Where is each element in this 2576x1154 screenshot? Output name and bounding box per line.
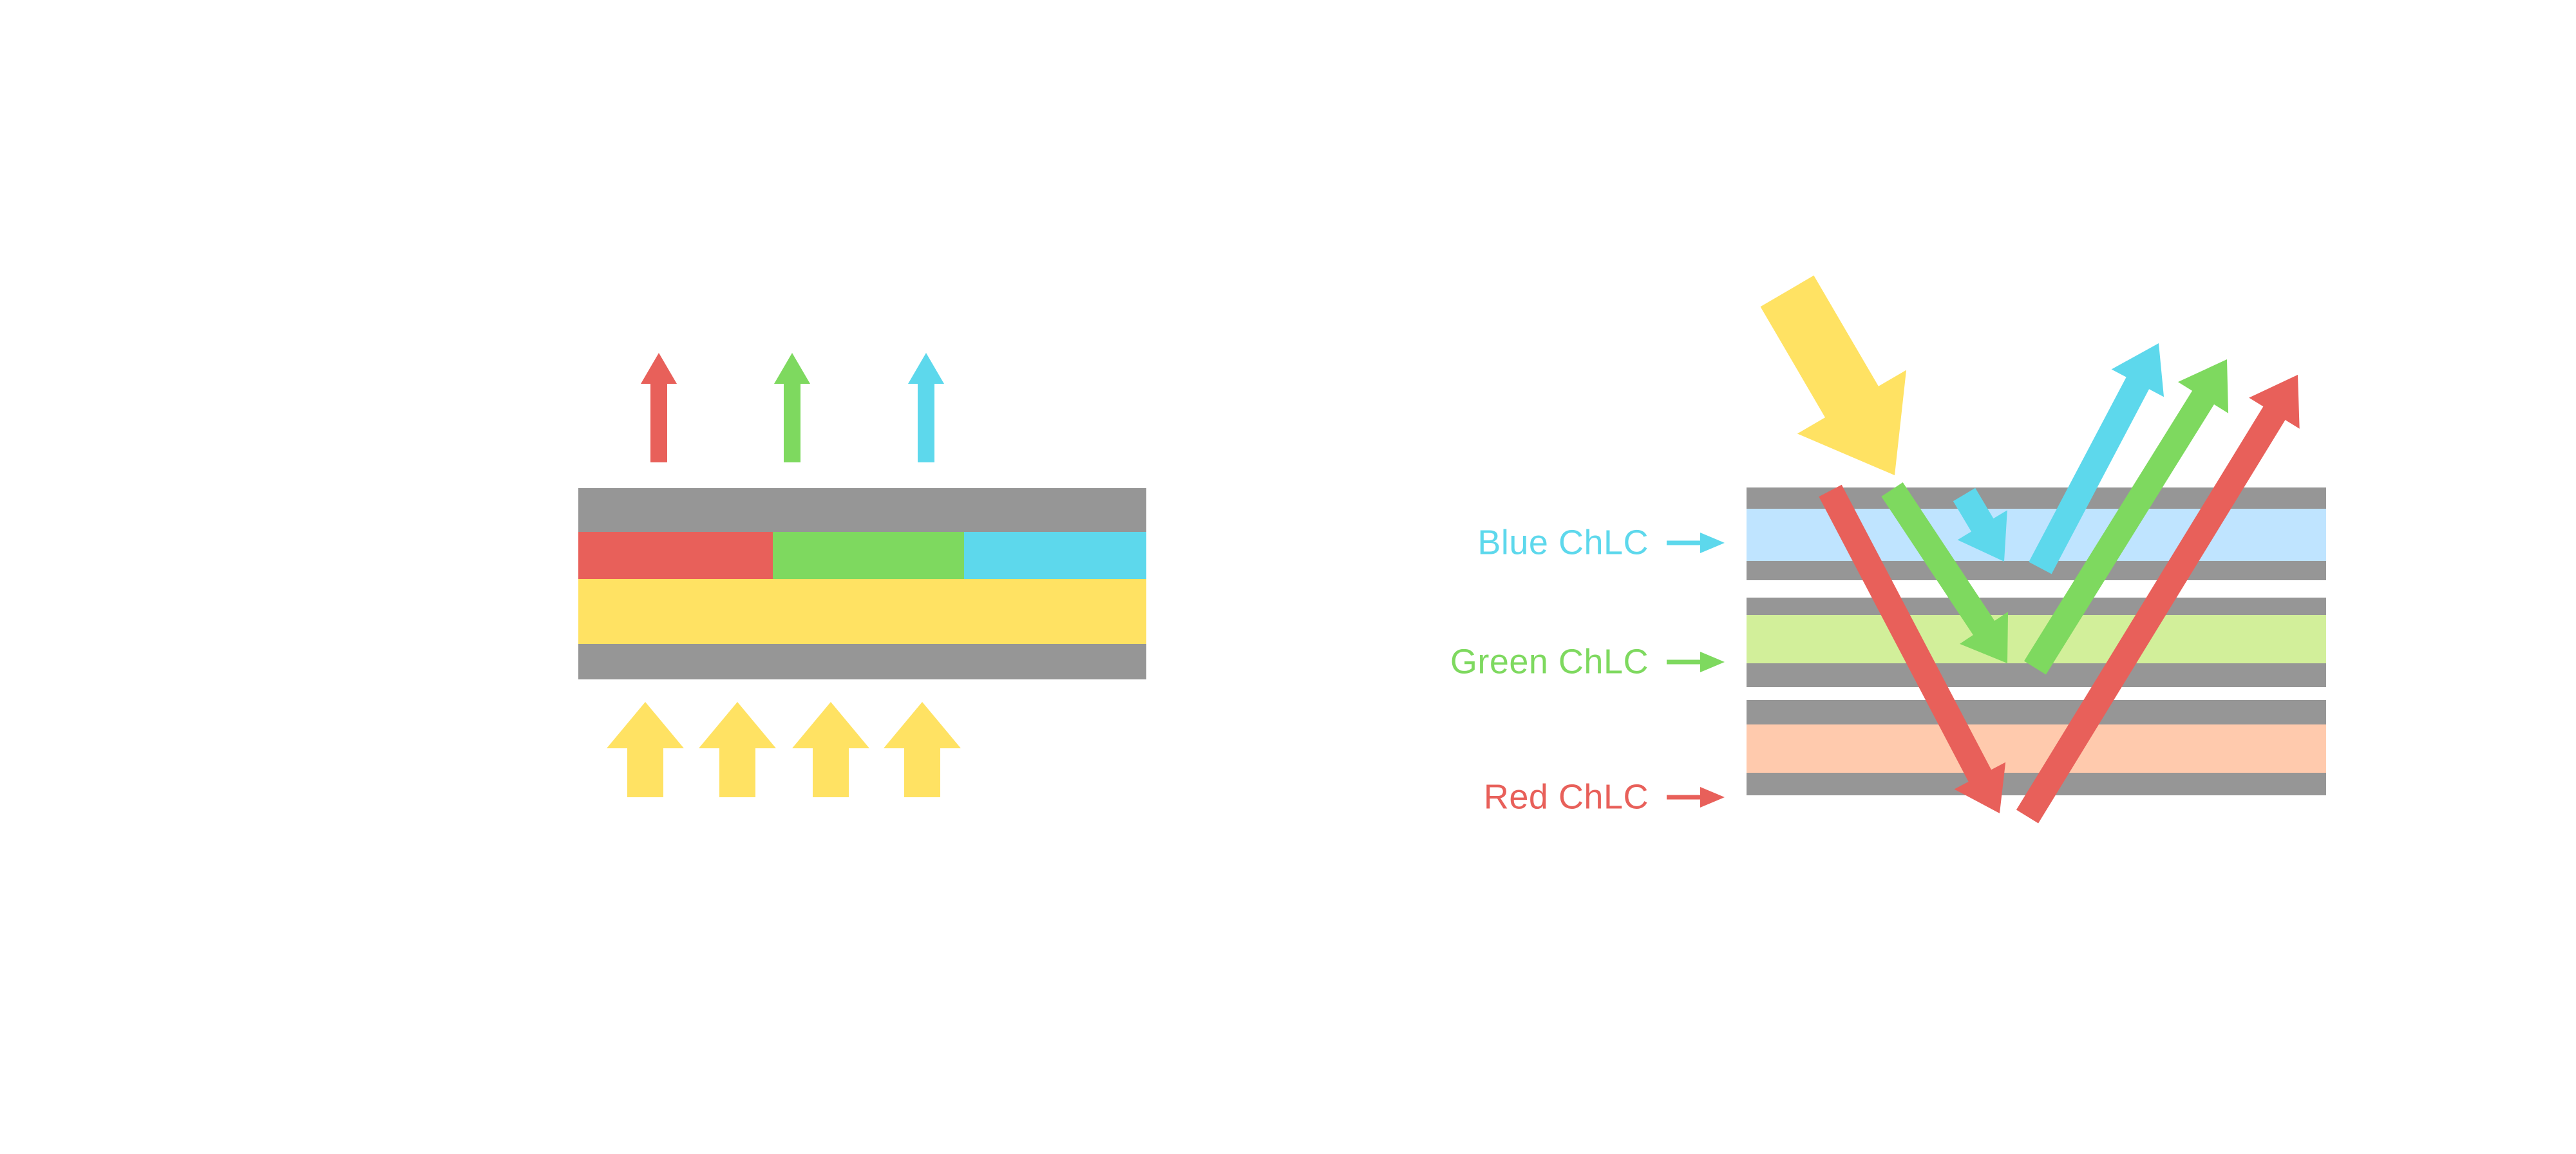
cyan-filter-segment [964,532,1146,579]
chlc-diagram-svg: Blue ChLCGreen ChLCRed ChLC [0,0,2576,1154]
color-filter-band [578,532,1146,579]
blue-chlc-group-label: Blue ChLC [1477,523,1649,562]
green-filter-segment [773,532,964,579]
red-chlc-group-top-electrode [1747,700,2326,724]
yellow-backlight-layer [578,579,1146,644]
red-chlc-group-label: Red ChLC [1484,777,1649,816]
top-gray-substrate [578,488,1146,532]
green-chlc-group-label: Green ChLC [1450,642,1649,681]
red-chlc-group-layer [1747,724,2326,773]
diagram-canvas: Blue ChLCGreen ChLCRed ChLC [0,0,2576,1154]
green-chlc-group-top-electrode [1747,598,2326,615]
bottom-gray-substrate [578,644,1146,679]
red-filter-segment [578,532,773,579]
